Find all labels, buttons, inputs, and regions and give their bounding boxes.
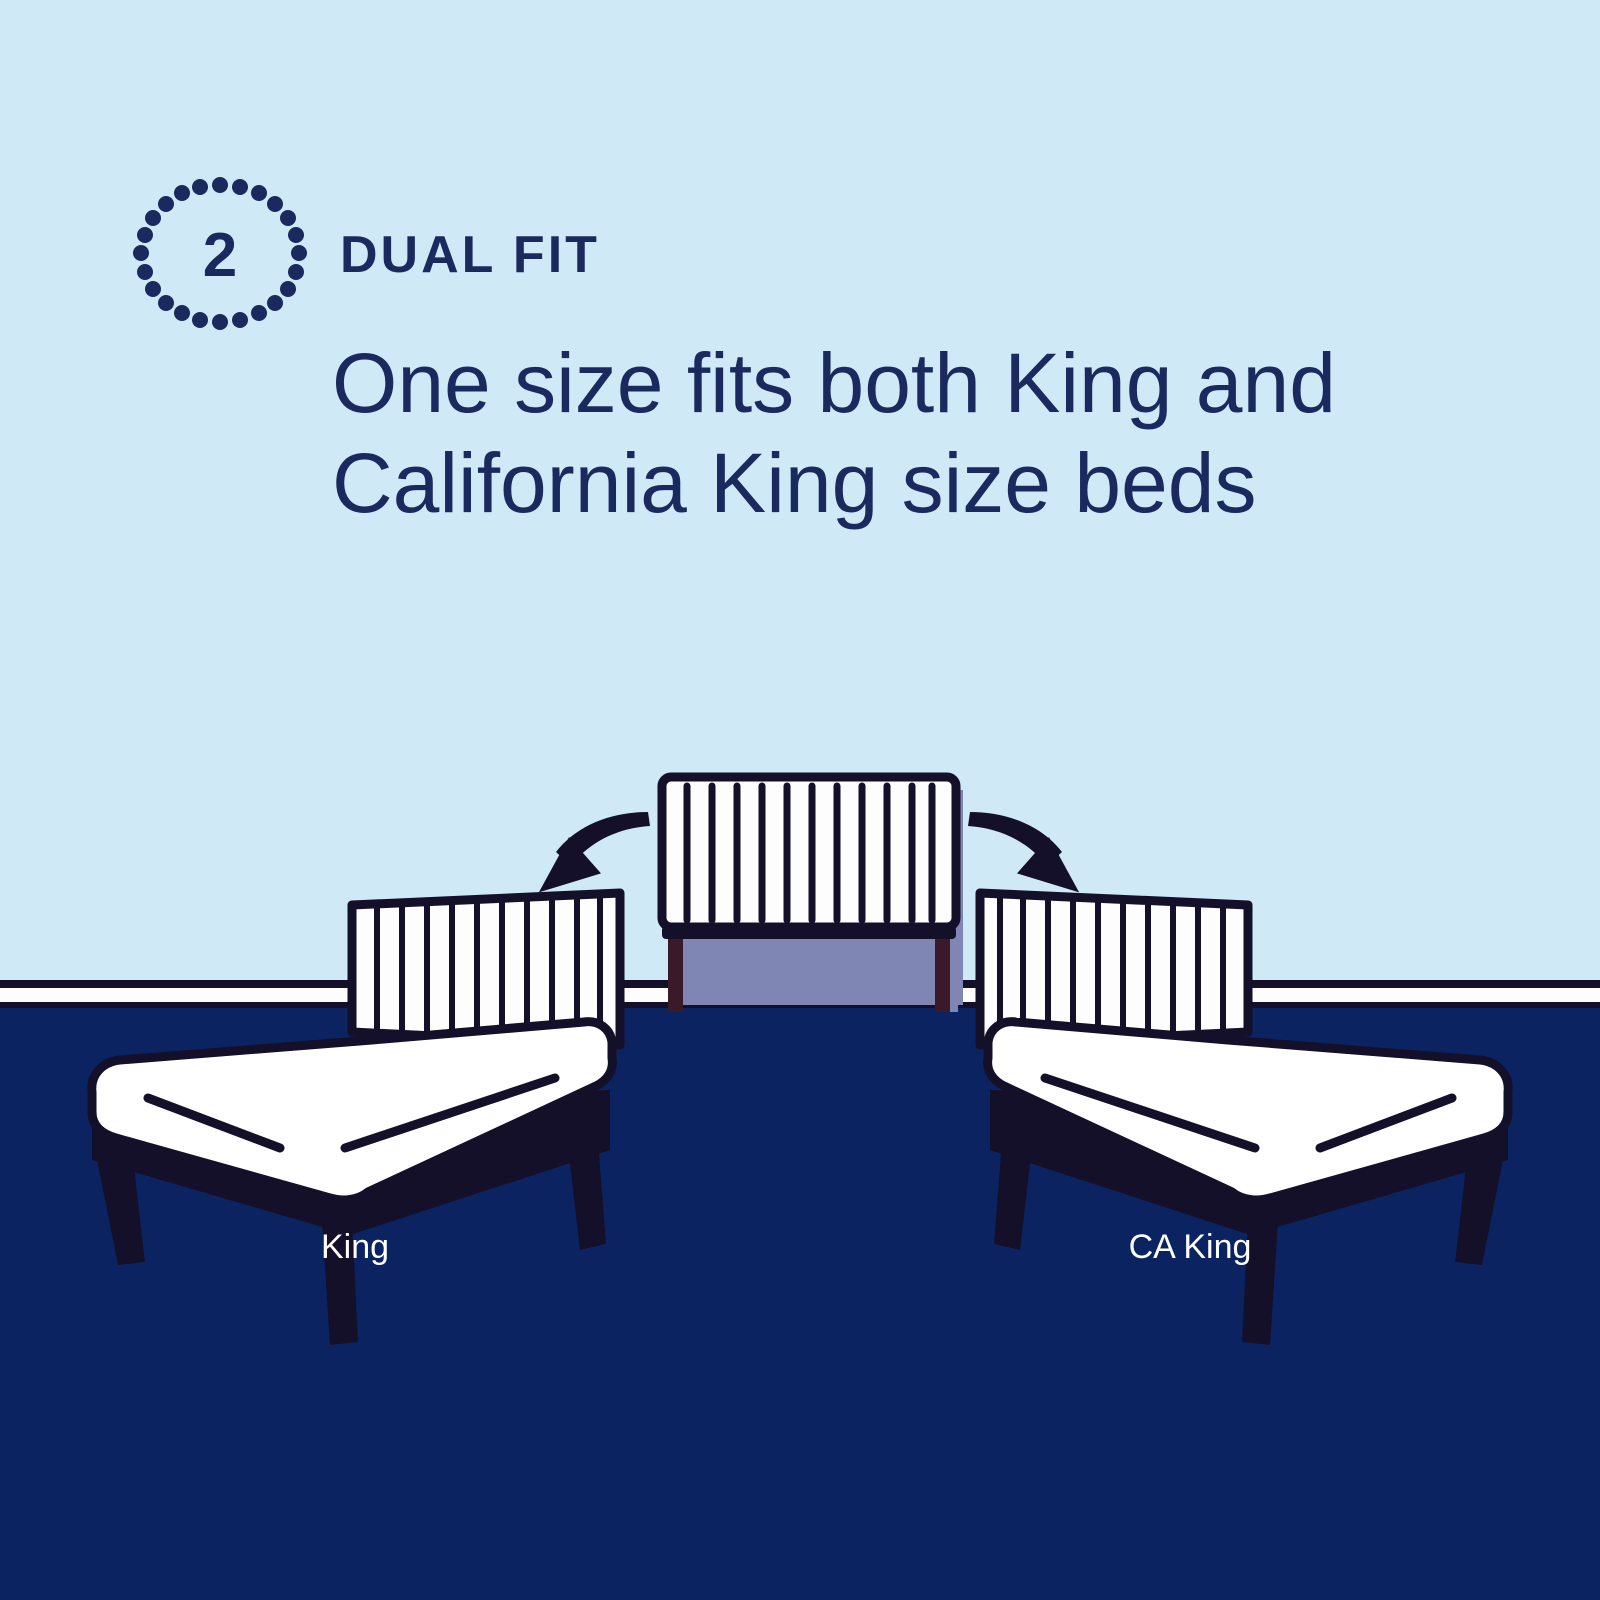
eyebrow-label: DUAL FIT: [340, 226, 600, 284]
headline-line-2: California King size beds: [332, 436, 1257, 530]
text-block: 2 DUAL FIT One size fits both King and C…: [0, 0, 1600, 1600]
dotted-circle-badge: 2: [133, 177, 307, 330]
infographic-slide: King: [0, 0, 1600, 1600]
headline-line-1: One size fits both King and: [332, 336, 1336, 430]
badge-number: 2: [203, 221, 237, 290]
